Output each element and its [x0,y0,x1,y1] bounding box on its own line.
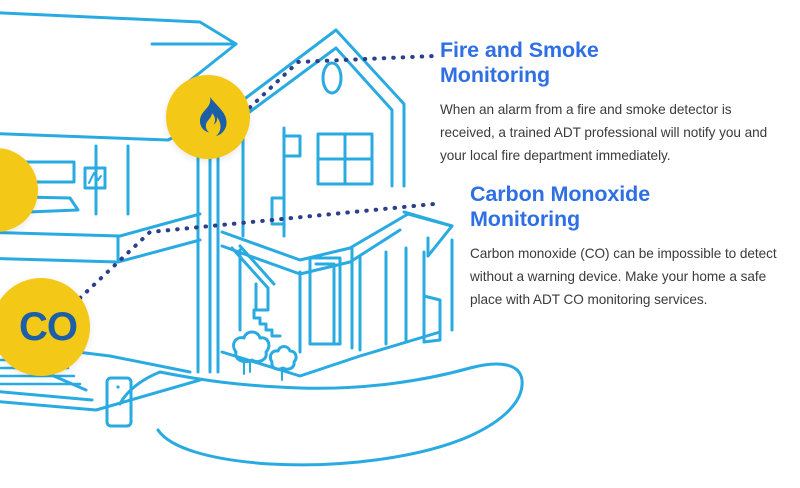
roof-upper-edge [0,12,236,44]
fire-section-body: When an alarm from a fire and smoke dete… [440,98,780,168]
interior-columns [96,146,128,214]
infographic-panel: CO Fire and Smoke Monitoring When an ala… [0,0,800,488]
door-inner [316,264,334,344]
porch-posts-right [360,252,424,350]
porch-roof-top [222,214,452,260]
bush-small [270,347,296,370]
co-badge-label: CO [5,307,77,347]
section-fire-and-smoke: Fire and Smoke Monitoring When an alarm … [440,38,780,168]
mid-floor-top [0,214,200,236]
co-section-body: Carbon monoxide (CO) can be impossible t… [440,242,790,312]
wall-step [284,136,300,156]
fire-section-heading: Fire and Smoke Monitoring [440,38,780,89]
lawn-outline [158,364,522,465]
basement-stair-stringer-bottom [0,390,92,400]
porch-posts-far-right [386,248,406,344]
flame-icon [185,94,231,140]
gable-roof-inner [228,48,392,186]
attic-vent-icon [323,63,341,93]
section-carbon-monoxide: Carbon Monoxide Monitoring Carbon monoxi… [440,182,790,312]
window-mullions [318,134,372,184]
mid-floor-bottom [0,240,200,262]
water-heater-dial [116,385,119,388]
flame-badge[interactable] [166,75,250,159]
chimney-column [198,148,218,372]
co-section-heading: Carbon Monoxide Monitoring [440,182,790,233]
